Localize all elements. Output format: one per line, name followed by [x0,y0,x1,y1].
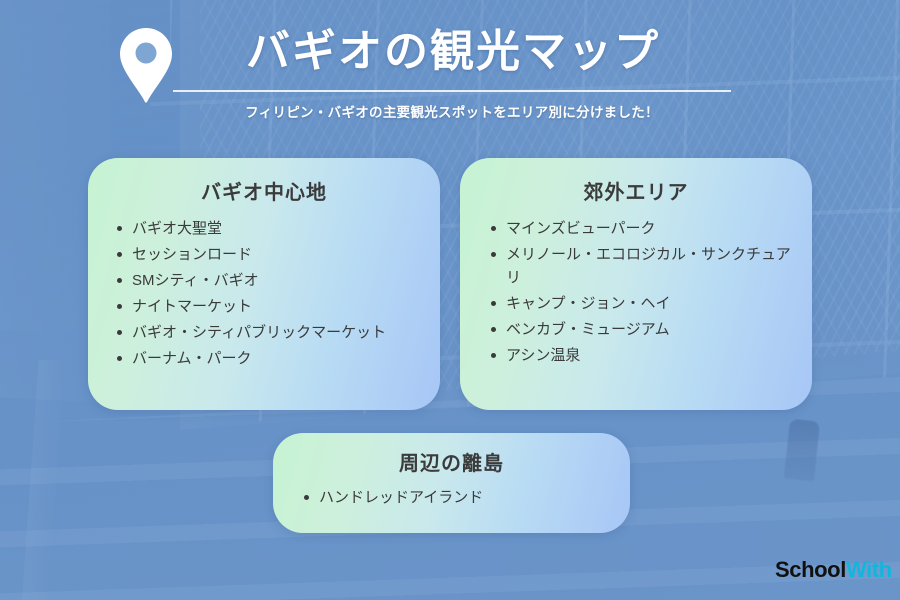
list-item: メリノール・エコロジカル・サンクチュアリ [486,243,794,289]
list-item: ハンドレッドアイランド [299,486,610,509]
list-item: バギオ・シティパブリックマーケット [112,321,418,344]
list-item: マインズビューパーク [486,217,794,240]
card-list: マインズビューパーク メリノール・エコロジカル・サンクチュアリ キャンプ・ジョン… [486,217,794,367]
list-item: ベンカブ・ミュージアム [486,318,794,341]
list-item: バーナム・パーク [112,347,418,370]
list-item: セッションロード [112,243,418,266]
card-nearby-islands: 周辺の離島 ハンドレッドアイランド [273,433,630,533]
card-central-baguio: バギオ中心地 バギオ大聖堂 セッションロード SMシティ・バギオ ナイトマーケッ… [88,158,440,410]
list-item: ナイトマーケット [112,295,418,318]
page-subtitle: フィリピン・バギオの主要観光スポットをエリア別に分けました！ [173,101,731,121]
card-title: バギオ中心地 [88,176,440,205]
map-pin-icon [118,26,174,104]
list-item: キャンプ・ジョン・ヘイ [486,292,794,315]
list-item: アシン温泉 [486,344,794,367]
schoolwith-logo: SchoolWith [775,558,892,582]
card-suburban-area: 郊外エリア マインズビューパーク メリノール・エコロジカル・サンクチュアリ キャ… [460,158,812,410]
card-list: バギオ大聖堂 セッションロード SMシティ・バギオ ナイトマーケット バギオ・シ… [112,217,418,370]
header: バギオの観光マップ フィリピン・バギオの主要観光スポットをエリア別に分けました！ [0,0,900,140]
card-list: ハンドレッドアイランド [299,486,610,509]
page-title: バギオの観光マップ [173,22,733,82]
list-item: SMシティ・バギオ [112,269,418,292]
card-title: 周辺の離島 [273,447,630,476]
logo-text-school: School [775,557,846,582]
card-title: 郊外エリア [460,176,812,205]
list-item: バギオ大聖堂 [112,217,418,240]
logo-text-with: With [846,557,892,582]
header-divider [173,90,731,92]
